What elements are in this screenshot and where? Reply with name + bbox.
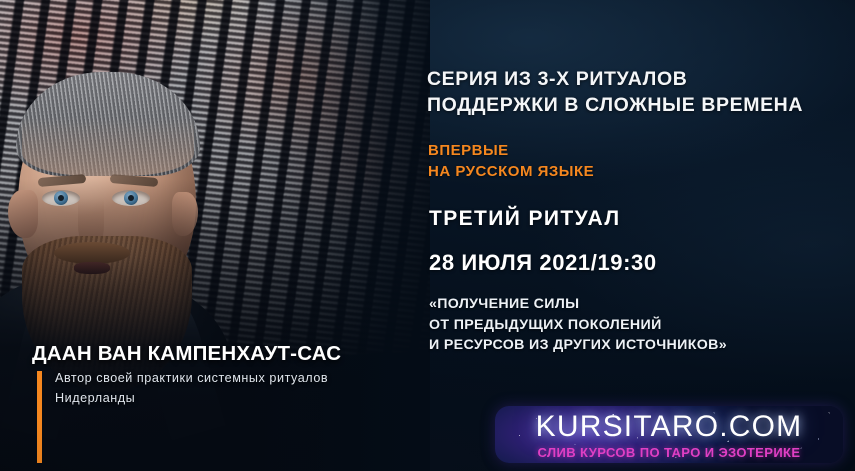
text-column: СЕРИЯ ИЗ 3-Х РИТУАЛОВ ПОДДЕРЖКИ В СЛОЖНЫ…: [427, 0, 855, 471]
headline-line-2: ПОДДЕРЖКИ В СЛОЖНЫЕ ВРЕМЕНА: [427, 92, 847, 118]
ritual-label: ТРЕТИЙ РИТУАЛ: [429, 207, 620, 231]
quote-line-1: «ПОЛУЧЕНИЕ СИЛЫ: [429, 294, 849, 315]
watermark-subtitle: СЛИВ КУРСОВ ПО ТАРО И ЭЗОТЕРИКЕ: [495, 445, 843, 460]
watermark-badge: KURSITARO.COM СЛИВ КУРСОВ ПО ТАРО И ЭЗОТ…: [495, 406, 843, 463]
first-time-note: ВПЕРВЫЕ НА РУССКОМ ЯЗЫКЕ: [428, 140, 594, 182]
promo-banner: СЕРИЯ ИЗ 3-Х РИТУАЛОВ ПОДДЕРЖКИ В СЛОЖНЫ…: [0, 0, 855, 471]
quote-line-3: И РЕСУРСОВ ИЗ ДРУГИХ ИСТОЧНИКОВ»: [429, 335, 849, 356]
headline: СЕРИЯ ИЗ 3-Х РИТУАЛОВ ПОДДЕРЖКИ В СЛОЖНЫ…: [427, 66, 847, 118]
speaker-description-line-2: Нидерланды: [55, 388, 385, 408]
speaker-description-line-1: Автор своей практики системных ритуалов: [55, 368, 385, 388]
speaker-name: ДААН ВАН КАМПЕНХАУТ-САС: [32, 342, 341, 366]
first-time-line-2: НА РУССКОМ ЯЗЫКЕ: [428, 161, 594, 182]
watermark-title: KURSITARO.COM: [495, 410, 843, 444]
ritual-quote: «ПОЛУЧЕНИЕ СИЛЫ ОТ ПРЕДЫДУЩИХ ПОКОЛЕНИЙ …: [429, 294, 849, 356]
quote-line-2: ОТ ПРЕДЫДУЩИХ ПОКОЛЕНИЙ: [429, 315, 849, 336]
accent-bar: [37, 371, 42, 463]
session-datetime: 28 ИЮЛЯ 2021/19:30: [429, 250, 657, 276]
speaker-description: Автор своей практики системных ритуалов …: [55, 368, 385, 408]
first-time-line-1: ВПЕРВЫЕ: [428, 140, 594, 161]
headline-line-1: СЕРИЯ ИЗ 3-Х РИТУАЛОВ: [427, 66, 847, 92]
